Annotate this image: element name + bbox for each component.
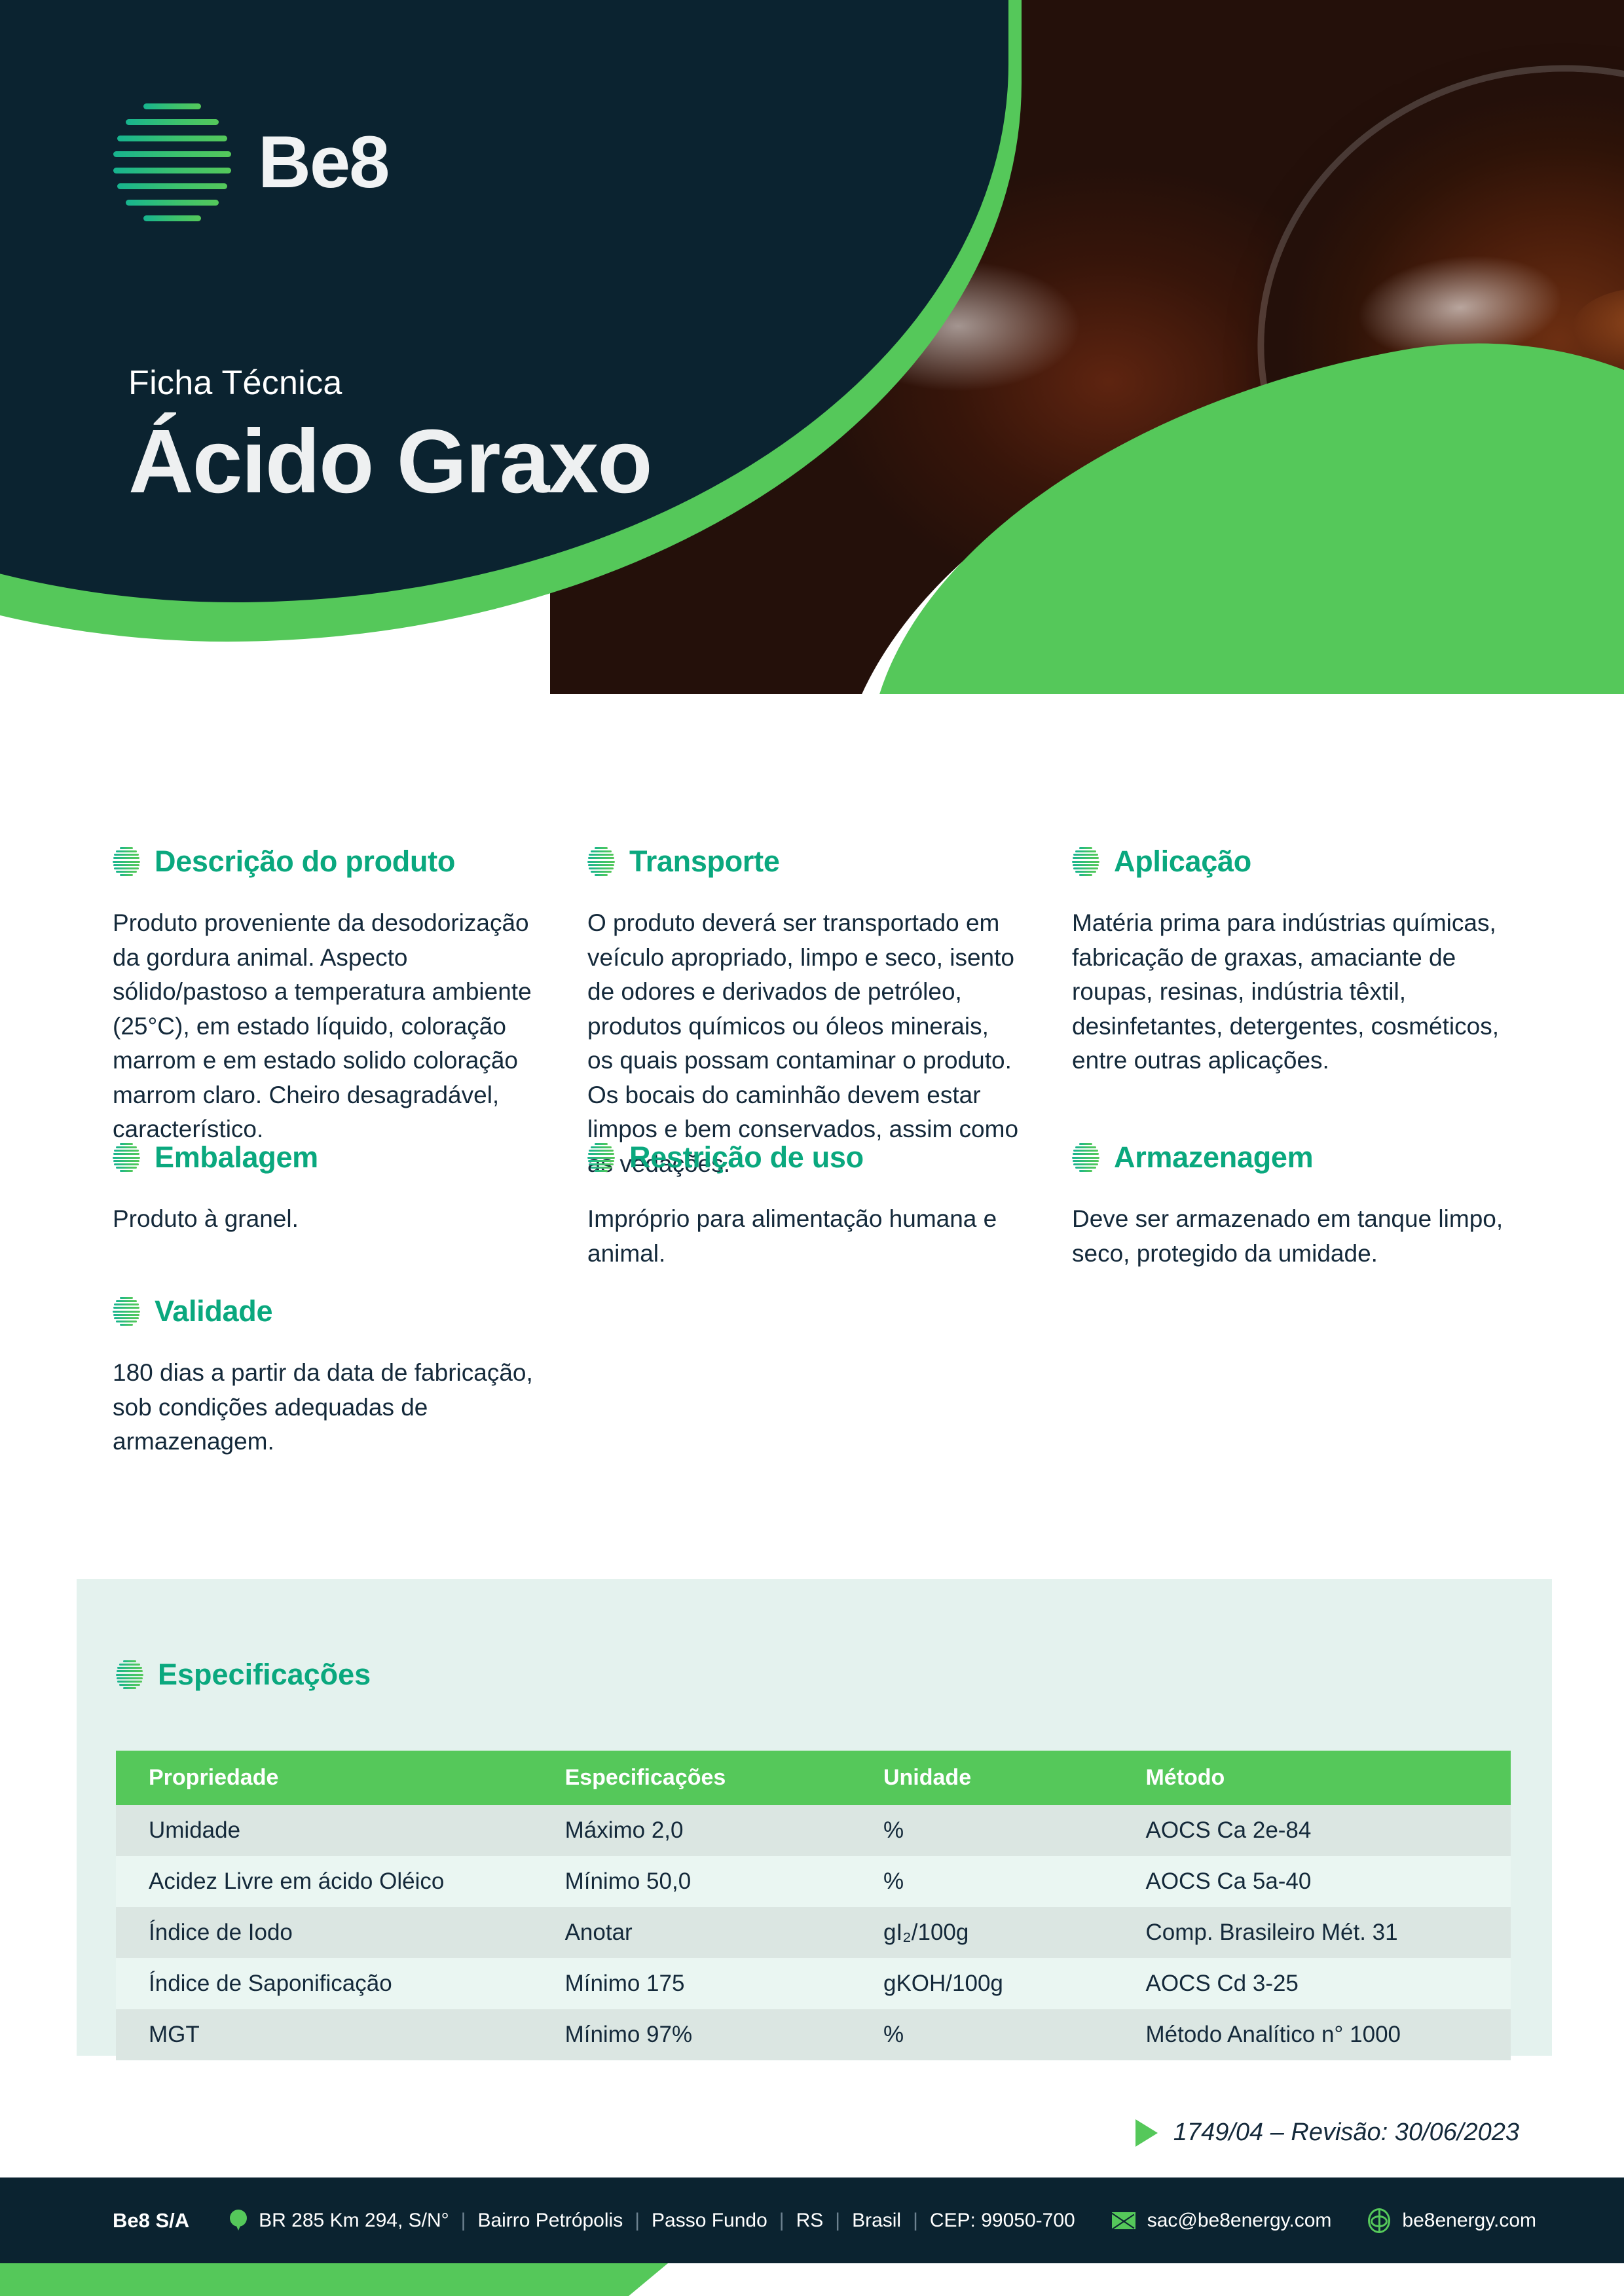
table-cell: Umidade bbox=[116, 1805, 532, 1856]
footer-address: BR 285 Km 294, S/N° bbox=[259, 2210, 449, 2232]
section-body: Impróprio para alimentação humana e anim… bbox=[587, 1202, 1020, 1271]
document-kind-label: Ficha Técnica bbox=[128, 363, 652, 403]
be8-sphere-bullet-icon bbox=[113, 1296, 140, 1326]
be8-sphere-bullet-icon bbox=[1072, 1142, 1099, 1173]
table-cell: Acidez Livre em ácido Oléico bbox=[116, 1856, 532, 1907]
specifications-table: PropriedadeEspecificaçõesUnidadeMétodo U… bbox=[116, 1751, 1511, 2060]
section-body: Produto à granel. bbox=[113, 1202, 532, 1237]
table-row: Índice de IodoAnotargI₂/100gComp. Brasil… bbox=[116, 1907, 1511, 1958]
table-row: Índice de SaponificaçãoMínimo 175gKOH/10… bbox=[116, 1958, 1511, 2009]
specifications-panel: Especificações PropriedadeEspecificações… bbox=[77, 1579, 1552, 2056]
location-pin-icon bbox=[230, 2210, 247, 2232]
footer-district: Bairro Petrópolis bbox=[477, 2210, 623, 2232]
table-row: Acidez Livre em ácido OléicoMínimo 50,0%… bbox=[116, 1856, 1511, 1907]
revision-line: 1749/04 – Revisão: 30/06/2023 bbox=[1135, 2119, 1519, 2147]
hero-bottom-mask bbox=[0, 694, 1624, 786]
section-armazenagem: ArmazenagemDeve ser armazenado em tanque… bbox=[1072, 1140, 1517, 1271]
footer-separator: | bbox=[913, 2210, 918, 2232]
section-heading: Transporte bbox=[587, 845, 1020, 879]
section-descricao: Descrição do produtoProduto proveniente … bbox=[113, 845, 532, 1147]
section-heading: Armazenagem bbox=[1072, 1140, 1517, 1175]
be8-wordmark: Be8 bbox=[258, 126, 388, 199]
table-cell: Anotar bbox=[532, 1907, 851, 1958]
page-title: Ácido Graxo bbox=[128, 414, 652, 509]
table-cell: Método Analítico n° 1000 bbox=[1113, 2009, 1511, 2060]
bottom-green-accent bbox=[0, 2263, 668, 2296]
specifications-heading: Especificações bbox=[116, 1658, 371, 1692]
section-heading: Validade bbox=[113, 1294, 558, 1328]
footer-website[interactable]: be8energy.com bbox=[1402, 2210, 1536, 2232]
play-triangle-icon bbox=[1135, 2119, 1158, 2147]
section-heading: Aplicação bbox=[1072, 845, 1517, 879]
table-row: MGTMínimo 97%%Método Analítico n° 1000 bbox=[116, 2009, 1511, 2060]
be8-logo[interactable]: Be8 bbox=[113, 98, 388, 227]
section-heading: Embalagem bbox=[113, 1140, 532, 1175]
section-aplicacao: AplicaçãoMatéria prima para indústrias q… bbox=[1072, 845, 1517, 1078]
footer-separator: | bbox=[779, 2210, 784, 2232]
section-body: Produto proveniente da desodorização da … bbox=[113, 906, 532, 1147]
section-heading: Descrição do produto bbox=[113, 845, 532, 879]
revision-text: 1749/04 – Revisão: 30/06/2023 bbox=[1173, 2119, 1519, 2147]
table-cell: AOCS Ca 5a-40 bbox=[1113, 1856, 1511, 1907]
be8-sphere-bullet-icon bbox=[113, 847, 140, 877]
table-cell: Mínimo 50,0 bbox=[532, 1856, 851, 1907]
be8-sphere-bullet-icon bbox=[1072, 847, 1099, 877]
table-row: UmidadeMáximo 2,0%AOCS Ca 2e-84 bbox=[116, 1805, 1511, 1856]
footer-separator: | bbox=[461, 2210, 466, 2232]
footer-city: Passo Fundo bbox=[652, 2210, 767, 2232]
table-column-header: Unidade bbox=[851, 1751, 1113, 1805]
table-cell: Mínimo 175 bbox=[532, 1958, 851, 2009]
section-title: Transporte bbox=[629, 845, 780, 879]
table-column-header: Método bbox=[1113, 1751, 1511, 1805]
globe-icon bbox=[1368, 2208, 1390, 2233]
envelope-icon bbox=[1112, 2212, 1135, 2229]
table-cell: gI₂/100g bbox=[851, 1907, 1113, 1958]
table-header-row: PropriedadeEspecificaçõesUnidadeMétodo bbox=[116, 1751, 1511, 1805]
table-column-header: Especificações bbox=[532, 1751, 851, 1805]
footer-state: RS bbox=[796, 2210, 824, 2232]
section-heading: Restrição de uso bbox=[587, 1140, 1020, 1175]
hero-banner: Be8 Ficha Técnica Ácido Graxo bbox=[0, 0, 1624, 786]
table-cell: Comp. Brasileiro Mét. 31 bbox=[1113, 1907, 1511, 1958]
section-title: Embalagem bbox=[155, 1140, 318, 1175]
be8-sphere-bullet-icon bbox=[587, 1142, 615, 1173]
be8-sphere-bullet-icon bbox=[587, 847, 615, 877]
specifications-title: Especificações bbox=[158, 1658, 371, 1692]
table-cell: % bbox=[851, 1805, 1113, 1856]
section-validade: Validade180 dias a partir da data de fab… bbox=[113, 1294, 558, 1459]
table-cell: % bbox=[851, 1856, 1113, 1907]
section-embalagem: EmbalagemProduto à granel. bbox=[113, 1140, 532, 1237]
footer-country: Brasil bbox=[852, 2210, 901, 2232]
footer-email[interactable]: sac@be8energy.com bbox=[1147, 2210, 1332, 2232]
section-transporte: TransporteO produto deverá ser transport… bbox=[587, 845, 1020, 1181]
page-footer: Be8 S/A BR 285 Km 294, S/N° | Bairro Pet… bbox=[0, 2178, 1624, 2263]
footer-separator: | bbox=[835, 2210, 840, 2232]
section-restricao: Restrição de usoImpróprio para alimentaç… bbox=[587, 1140, 1020, 1271]
section-title: Aplicação bbox=[1114, 845, 1251, 879]
section-body: Matéria prima para indústrias químicas, … bbox=[1072, 906, 1517, 1078]
footer-company-name: Be8 S/A bbox=[113, 2209, 189, 2232]
section-title: Validade bbox=[155, 1294, 272, 1328]
table-cell: Máximo 2,0 bbox=[532, 1805, 851, 1856]
section-title: Restrição de uso bbox=[629, 1140, 864, 1175]
be8-sphere-logo-icon bbox=[113, 98, 232, 227]
section-body: 180 dias a partir da data de fabricação,… bbox=[113, 1356, 558, 1459]
table-cell: Índice de Iodo bbox=[116, 1907, 532, 1958]
table-cell: Índice de Saponificação bbox=[116, 1958, 532, 2009]
table-cell: AOCS Ca 2e-84 bbox=[1113, 1805, 1511, 1856]
table-column-header: Propriedade bbox=[116, 1751, 532, 1805]
table-body: UmidadeMáximo 2,0%AOCS Ca 2e-84Acidez Li… bbox=[116, 1805, 1511, 2060]
be8-sphere-bullet-icon bbox=[116, 1660, 143, 1690]
table-cell: gKOH/100g bbox=[851, 1958, 1113, 2009]
be8-sphere-bullet-icon bbox=[113, 1142, 140, 1173]
table-cell: Mínimo 97% bbox=[532, 2009, 851, 2060]
footer-separator: | bbox=[635, 2210, 640, 2232]
table-cell: MGT bbox=[116, 2009, 532, 2060]
table-cell: % bbox=[851, 2009, 1113, 2060]
section-body: Deve ser armazenado em tanque limpo, sec… bbox=[1072, 1202, 1517, 1271]
table-cell: AOCS Cd 3-25 bbox=[1113, 1958, 1511, 2009]
footer-postal-code: CEP: 99050-700 bbox=[930, 2210, 1075, 2232]
section-title: Descrição do produto bbox=[155, 845, 455, 879]
hero-text-block: Ficha Técnica Ácido Graxo bbox=[128, 363, 652, 509]
section-title: Armazenagem bbox=[1114, 1140, 1313, 1175]
